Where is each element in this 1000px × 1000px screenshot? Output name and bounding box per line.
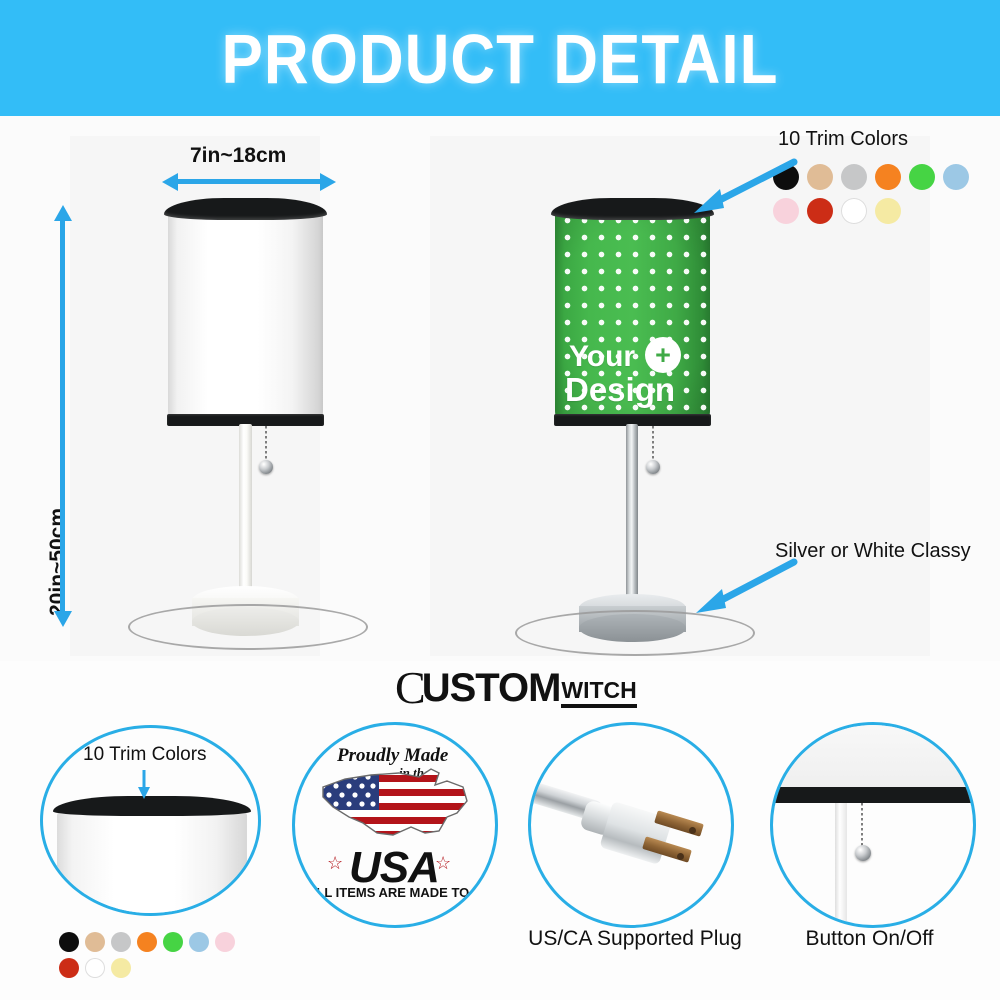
trim-swatch-light-blue[interactable] — [189, 932, 209, 952]
your-design-line2: Design — [565, 373, 675, 406]
feature-switch: Button On/Off — [762, 722, 977, 982]
pull-chain-ball-icon — [259, 460, 273, 474]
lamp-pole — [626, 424, 638, 614]
your-design-line1: Your — [569, 342, 635, 372]
page-title: PRODUCT DETAIL — [0, 26, 1000, 95]
trim-swatch-white[interactable] — [85, 958, 105, 978]
pull-chain — [652, 426, 654, 464]
feature-trim-colors: 10 Trim Colors — [35, 722, 250, 997]
trim-swatch-gray[interactable] — [111, 932, 131, 952]
brand-name-secondary: WITCH — [561, 679, 636, 702]
trim-swatch-black[interactable] — [59, 932, 79, 952]
pull-chain — [861, 803, 863, 849]
trim-colors-callout-arrow-icon — [690, 156, 800, 216]
trim-swatch-red[interactable] — [59, 958, 79, 978]
lamp-shade-custom: Your + Design — [555, 206, 710, 421]
finish-callout-arrow-icon — [690, 556, 800, 618]
usa-star-right-icon: ☆ — [435, 853, 451, 874]
lamp-pole-crop — [835, 803, 847, 925]
feature-circle — [528, 722, 734, 928]
shade-crop-trim — [770, 787, 976, 803]
plug-prong-bottom-hole — [677, 853, 684, 860]
lamp-shade-white — [168, 206, 323, 421]
trim-swatch-pink[interactable] — [215, 932, 235, 952]
trim-swatch-yellow[interactable] — [875, 198, 901, 224]
trim-colors-swatch-row-top — [773, 164, 1000, 224]
shade-crop-white — [770, 722, 976, 787]
trim-swatch-white[interactable] — [841, 198, 867, 224]
pull-chain-ball-icon — [646, 460, 660, 474]
feature-trim-colors-arrow-icon — [130, 768, 158, 802]
shade-surface — [168, 206, 323, 421]
pull-chain — [265, 426, 267, 464]
pull-chain-ball-icon — [855, 845, 871, 861]
brand-name-primary: USTOM — [422, 668, 561, 708]
trim-colors-callout-title: 10 Trim Colors — [778, 128, 908, 151]
trim-swatch-green[interactable] — [909, 164, 935, 190]
shade-crop-white — [57, 810, 247, 916]
brand-logo: C USTOM WITCH — [395, 668, 637, 708]
feature-circle — [770, 722, 976, 928]
brand-name-secondary-wrap: WITCH — [561, 679, 636, 708]
usa-star-left-icon: ☆ — [327, 853, 343, 874]
finish-callout-title: Silver or White Classy — [775, 540, 971, 563]
trim-swatch-gray[interactable] — [841, 164, 867, 190]
add-design-plus-icon: + — [645, 337, 681, 373]
trim-swatch-yellow[interactable] — [111, 958, 131, 978]
trim-swatch-light-blue[interactable] — [943, 164, 969, 190]
shade-trim-top — [164, 198, 327, 220]
trim-colors-swatch-row-bottom — [59, 932, 244, 978]
trim-swatch-tan[interactable] — [85, 932, 105, 952]
feature-trim-colors-label: 10 Trim Colors — [83, 744, 207, 766]
base-wire-ring — [128, 604, 368, 650]
product-detail-page: PRODUCT DETAIL 7in~18cm 20in~50cm — [0, 0, 1000, 1000]
trim-swatch-orange[interactable] — [875, 164, 901, 190]
feature-plug-caption: US/CA Supported Plug — [510, 927, 760, 951]
product-stage: 7in~18cm 20in~50cm — [0, 116, 1000, 661]
plus-glyph: + — [655, 340, 671, 371]
feature-circle: Proudly Made in the — [292, 722, 498, 928]
usa-flag-map-icon — [315, 761, 477, 853]
usa-badge-subtitle: ALL ITEMS ARE MADE TO ORDER! — [307, 885, 498, 900]
lamp-pole — [239, 424, 252, 606]
plug-prong-top-hole — [689, 827, 696, 834]
feature-switch-caption: Button On/Off — [762, 927, 977, 951]
feature-plug: US/CA Supported Plug — [510, 722, 760, 982]
feature-made-in-usa: Proudly Made in the — [292, 722, 507, 922]
trim-swatch-tan[interactable] — [807, 164, 833, 190]
trim-swatch-orange[interactable] — [137, 932, 157, 952]
brand-underline — [561, 704, 636, 708]
trim-swatch-green[interactable] — [163, 932, 183, 952]
trim-swatch-red[interactable] — [807, 198, 833, 224]
lamp-white — [0, 116, 430, 661]
